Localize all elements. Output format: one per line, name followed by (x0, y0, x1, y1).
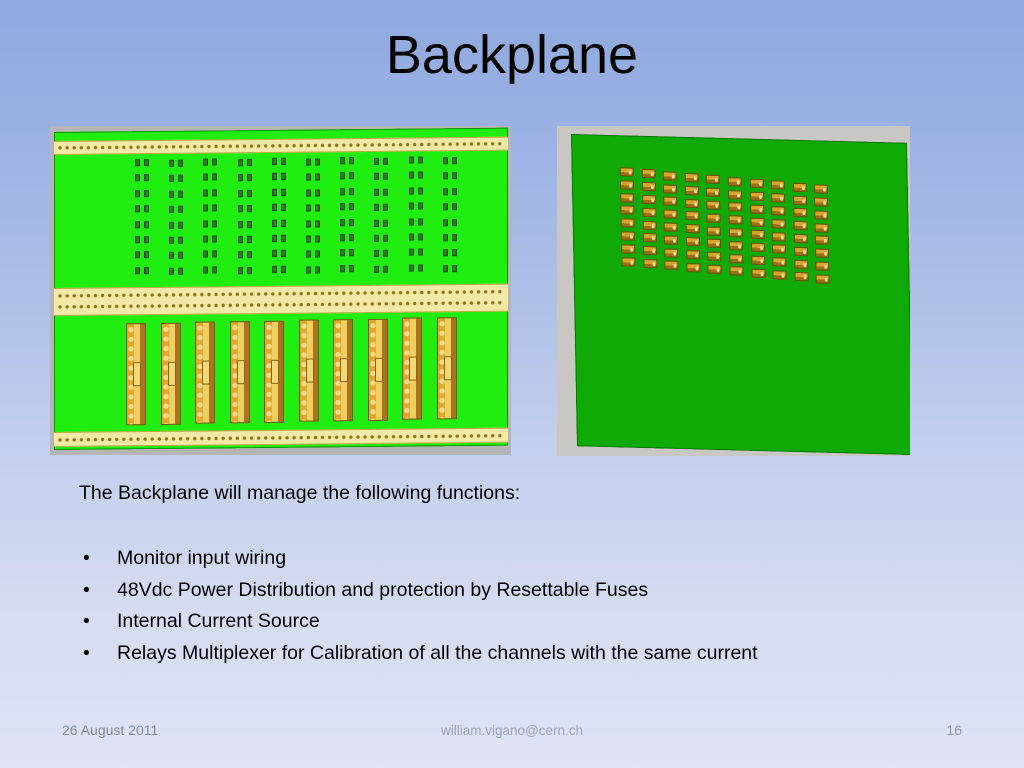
component-pair (306, 158, 321, 166)
component-pair (443, 265, 458, 273)
component-pair (340, 188, 355, 196)
component-pair (374, 266, 389, 274)
component-pad (212, 174, 217, 181)
relay-chip (771, 181, 785, 190)
component-pad (383, 250, 388, 257)
component-pair (272, 235, 287, 243)
relay-chip (685, 211, 699, 220)
component-pair (340, 219, 355, 227)
component-pair (306, 205, 321, 213)
relay-chip (728, 202, 742, 211)
component-pair (238, 205, 253, 213)
relay-chip (663, 184, 677, 193)
component-pad (281, 219, 286, 226)
component-pair (135, 267, 150, 275)
component-pair (374, 250, 389, 258)
component-pair (272, 266, 287, 274)
component-pair (135, 205, 150, 213)
pad-row (57, 141, 505, 151)
footer-page-number: 16 (946, 722, 962, 738)
component-pair (238, 221, 253, 229)
relay-chip (664, 235, 678, 244)
component-pad (247, 174, 252, 181)
bullet-marker-icon: • (83, 606, 90, 638)
component-pad (315, 205, 320, 212)
component-pair (238, 190, 253, 198)
list-item-label: 48Vdc Power Distribution and protection … (117, 579, 648, 601)
relay-chip (814, 185, 828, 194)
edge-connector (161, 322, 181, 424)
relay-chip (816, 274, 830, 283)
component-pair (169, 206, 184, 214)
component-pair (203, 189, 218, 197)
component-pad (418, 233, 423, 240)
component-pair (169, 237, 184, 245)
component-pad (203, 220, 208, 227)
relay-chip (663, 197, 677, 206)
component-pad (349, 265, 354, 272)
component-pair (306, 266, 321, 274)
component-pad (306, 220, 311, 227)
connector-strip-top (54, 137, 508, 155)
relay-chip (663, 171, 677, 180)
component-pad (374, 189, 379, 196)
component-pair (306, 189, 321, 197)
component-pad (247, 159, 252, 166)
component-grid-3d (620, 167, 847, 283)
list-item-label: Relays Multiplexer for Calibration of al… (117, 642, 758, 664)
component-pair (169, 160, 184, 168)
component-pair (340, 265, 355, 273)
edge-connector (402, 318, 422, 420)
relay-chip (794, 247, 808, 256)
component-pair (409, 187, 424, 195)
component-column (306, 157, 321, 280)
component-pad (443, 234, 448, 241)
component-pad (281, 158, 286, 165)
component-pad (418, 156, 423, 163)
component-pad (306, 236, 311, 243)
component-pad (135, 159, 140, 166)
relay-chip (772, 258, 786, 267)
component-pad (383, 204, 388, 211)
relay-chip (728, 190, 742, 199)
component-pad (306, 205, 311, 212)
list-item: • Relays Multiplexer for Calibration of … (79, 638, 959, 670)
component-pad (409, 203, 414, 210)
component-pad (272, 266, 277, 273)
component-pad (203, 174, 208, 181)
component-pad (272, 173, 277, 180)
relay-chip (686, 263, 700, 272)
relay-chip (685, 224, 699, 233)
component-pad (178, 268, 183, 275)
relay-chip (772, 219, 786, 228)
component-pad (383, 219, 388, 226)
bullet-marker-icon: • (83, 638, 90, 670)
component-pair (169, 252, 184, 260)
edge-connector (195, 322, 215, 424)
component-pad (272, 204, 277, 211)
component-pad (409, 249, 414, 256)
component-pair (443, 173, 458, 181)
edge-connector (264, 320, 284, 422)
relay-chip (708, 252, 722, 261)
component-pair (135, 221, 150, 229)
component-column (272, 158, 287, 281)
component-pad (281, 204, 286, 211)
component-pair (135, 236, 150, 244)
relay-chip (772, 232, 786, 241)
component-pair (203, 205, 218, 213)
relay-chip (793, 195, 807, 204)
component-pair (340, 249, 355, 257)
edge-connector (437, 317, 457, 419)
component-pair (443, 234, 458, 242)
component-pad (281, 266, 286, 273)
relay-chip (665, 261, 679, 270)
bullet-marker-icon: • (83, 575, 90, 607)
component-pad (409, 234, 414, 241)
relay-chip (686, 237, 700, 246)
component-pair (374, 158, 389, 166)
relay-chip (620, 167, 634, 176)
component-pad (212, 251, 217, 258)
component-pad (135, 221, 140, 228)
pcb-board-3d (571, 134, 910, 455)
component-pad (443, 173, 448, 180)
component-pad (135, 190, 140, 197)
component-pad (383, 189, 388, 196)
component-pair (169, 268, 184, 276)
component-pad (409, 187, 414, 194)
component-pad (374, 250, 379, 257)
component-pair (340, 234, 355, 242)
component-column (374, 157, 389, 280)
slide: Backplane The Backplane will manage the … (0, 0, 1024, 768)
component-pad (212, 189, 217, 196)
component-pad (409, 218, 414, 225)
component-pad (272, 235, 277, 242)
component-pair (409, 249, 424, 257)
connector-strip-bottom (54, 428, 508, 447)
component-pad (144, 174, 149, 181)
component-pad (247, 205, 252, 212)
pcb-board-front (54, 128, 508, 450)
component-pad (374, 235, 379, 242)
relay-chip (749, 179, 763, 188)
component-pair (306, 251, 321, 259)
figure-backplane-front (50, 126, 511, 455)
relay-chip (642, 220, 656, 229)
component-pair (409, 264, 424, 272)
component-pad (247, 221, 252, 228)
component-pad (306, 251, 311, 258)
component-pair (374, 204, 389, 212)
component-pad (238, 159, 243, 166)
relay-chip (708, 265, 722, 274)
component-pad (212, 235, 217, 242)
relay-chip (686, 250, 700, 259)
relay-chip (750, 204, 764, 213)
component-pad (144, 159, 149, 166)
component-pair (135, 174, 150, 182)
component-pad (169, 175, 174, 182)
component-pad (238, 190, 243, 197)
component-pad (383, 158, 388, 165)
relay-chip (772, 245, 786, 254)
component-pad (349, 188, 354, 195)
component-pad (247, 190, 252, 197)
component-pad (349, 203, 354, 210)
component-pad (409, 157, 414, 164)
component-pad (178, 252, 183, 259)
component-pad (178, 206, 183, 213)
component-pair (340, 203, 355, 211)
component-pad (135, 175, 140, 182)
component-pad (178, 160, 183, 167)
component-pad (418, 172, 423, 179)
component-pad (238, 267, 243, 274)
component-pair (443, 188, 458, 196)
relay-chip (643, 259, 657, 268)
component-pad (238, 175, 243, 182)
relay-chip (794, 234, 808, 243)
relay-chip (751, 243, 765, 252)
component-pad (315, 220, 320, 227)
component-pad (203, 251, 208, 258)
bullet-marker-icon: • (83, 543, 90, 575)
component-pair (409, 172, 424, 180)
component-pair (340, 157, 355, 165)
component-pad (169, 206, 174, 213)
component-pad (315, 251, 320, 258)
pad-row (57, 300, 505, 310)
component-pair (306, 220, 321, 228)
component-pad (349, 250, 354, 257)
list-item: • 48Vdc Power Distribution and protectio… (79, 575, 959, 607)
component-pair (203, 251, 218, 259)
relay-chip (642, 208, 656, 217)
component-pad (169, 252, 174, 259)
component-pad (306, 266, 311, 273)
component-pair (135, 190, 150, 198)
component-pair (272, 189, 287, 197)
component-pad (281, 189, 286, 196)
relay-chip (729, 254, 743, 263)
component-pad (340, 219, 345, 226)
component-pad (238, 205, 243, 212)
component-pad (315, 189, 320, 196)
page-title: Backplane (0, 26, 1024, 85)
component-pad (169, 160, 174, 167)
component-pad (443, 250, 448, 257)
relay-chip (815, 236, 829, 245)
list-item-label: Internal Current Source (117, 610, 320, 632)
component-pad (135, 252, 140, 259)
component-pair (272, 250, 287, 258)
relay-chip (706, 175, 720, 184)
component-pair (238, 159, 253, 167)
component-pad (452, 203, 457, 210)
edge-connector (126, 323, 146, 425)
component-pad (315, 158, 320, 165)
figure-backplane-3d (557, 126, 910, 456)
component-pad (340, 188, 345, 195)
relay-chip (751, 268, 765, 277)
relay-chip (728, 177, 742, 186)
component-pad (238, 236, 243, 243)
component-pad (203, 189, 208, 196)
component-pad (452, 265, 457, 272)
relay-chip (814, 197, 828, 206)
relay-chip (771, 194, 785, 203)
component-pad (418, 264, 423, 271)
component-pad (443, 265, 448, 272)
component-pad (247, 267, 252, 274)
component-pad (281, 235, 286, 242)
component-pad (203, 159, 208, 166)
component-pair (409, 218, 424, 226)
component-pad (272, 158, 277, 165)
component-pair (238, 174, 253, 182)
component-pad (349, 234, 354, 241)
component-pad (238, 221, 243, 228)
component-column (409, 156, 424, 279)
component-pair (443, 157, 458, 165)
component-pair (443, 203, 458, 211)
list-item: • Monitor input wiring (79, 543, 959, 575)
component-pair (203, 174, 218, 182)
component-pad (272, 219, 277, 226)
component-pair (374, 189, 389, 197)
component-pad (203, 205, 208, 212)
component-pair (169, 191, 184, 199)
component-pair (272, 204, 287, 212)
relay-chip (729, 228, 743, 237)
relay-chip (621, 244, 635, 253)
relay-chip (664, 210, 678, 219)
component-pad (135, 205, 140, 212)
component-pad (340, 157, 345, 164)
component-pad (144, 221, 149, 228)
component-pad (443, 219, 448, 226)
component-pad (452, 188, 457, 195)
component-pad (418, 249, 423, 256)
relay-chip (815, 210, 829, 219)
component-pad (443, 188, 448, 195)
component-pad (272, 189, 277, 196)
component-pair (374, 219, 389, 227)
component-column (169, 159, 184, 282)
relay-chip (750, 230, 764, 239)
relay-chip (620, 193, 634, 202)
relay-chip (620, 206, 634, 215)
component-pair (374, 235, 389, 243)
component-pair (272, 158, 287, 166)
component-pad (383, 235, 388, 242)
component-pad (340, 203, 345, 210)
component-pad (340, 173, 345, 180)
component-pad (374, 158, 379, 165)
component-pad (203, 266, 208, 273)
component-pair (409, 233, 424, 241)
relay-chip (750, 192, 764, 201)
relay-chip (728, 215, 742, 224)
component-pair (238, 251, 253, 259)
relay-chip (729, 267, 743, 276)
relay-chip (815, 249, 829, 258)
component-pad (340, 234, 345, 241)
component-pad (452, 219, 457, 226)
relay-chip (641, 169, 655, 178)
component-pair (340, 172, 355, 180)
relay-chip (794, 272, 808, 281)
component-pad (306, 174, 311, 181)
component-pad (169, 221, 174, 228)
relay-chip (643, 246, 657, 255)
list-item: • Internal Current Source (79, 606, 959, 638)
component-pair (135, 159, 150, 167)
relay-chip (685, 199, 699, 208)
component-pad (178, 191, 183, 198)
component-pad (247, 236, 252, 243)
component-pair (169, 175, 184, 183)
component-pad (418, 218, 423, 225)
component-pair (135, 251, 150, 259)
relay-chip (794, 259, 808, 268)
component-pair (306, 174, 321, 182)
edge-connector (230, 321, 250, 423)
edge-connector (299, 320, 319, 422)
bullet-list: • Monitor input wiring • 48Vdc Power Dis… (79, 543, 959, 669)
component-pair (238, 236, 253, 244)
component-pad (443, 203, 448, 210)
relay-chip (664, 248, 678, 257)
component-pad (383, 266, 388, 273)
component-pad (452, 157, 457, 164)
relay-chip (707, 226, 721, 235)
component-pad (374, 173, 379, 180)
component-pad (349, 157, 354, 164)
relay-chip (642, 195, 656, 204)
component-pad (349, 173, 354, 180)
component-pad (340, 250, 345, 257)
component-pad (418, 187, 423, 194)
relay-chip (793, 183, 807, 192)
relay-chip (750, 217, 764, 226)
relay-chip (621, 231, 635, 240)
component-pad (374, 204, 379, 211)
component-pad (135, 267, 140, 274)
component-pair (169, 221, 184, 229)
connector-strip-middle (54, 284, 508, 316)
component-pad (315, 235, 320, 242)
component-pad (212, 205, 217, 212)
component-pad (281, 173, 286, 180)
component-column (443, 156, 458, 279)
component-pad (135, 236, 140, 243)
component-pad (409, 172, 414, 179)
relay-chip (707, 239, 721, 248)
component-pad (443, 157, 448, 164)
component-pad (212, 220, 217, 227)
component-pad (178, 237, 183, 244)
component-column (135, 159, 150, 282)
component-pad (144, 251, 149, 258)
relay-chip (793, 208, 807, 217)
relay-chip (751, 256, 765, 265)
